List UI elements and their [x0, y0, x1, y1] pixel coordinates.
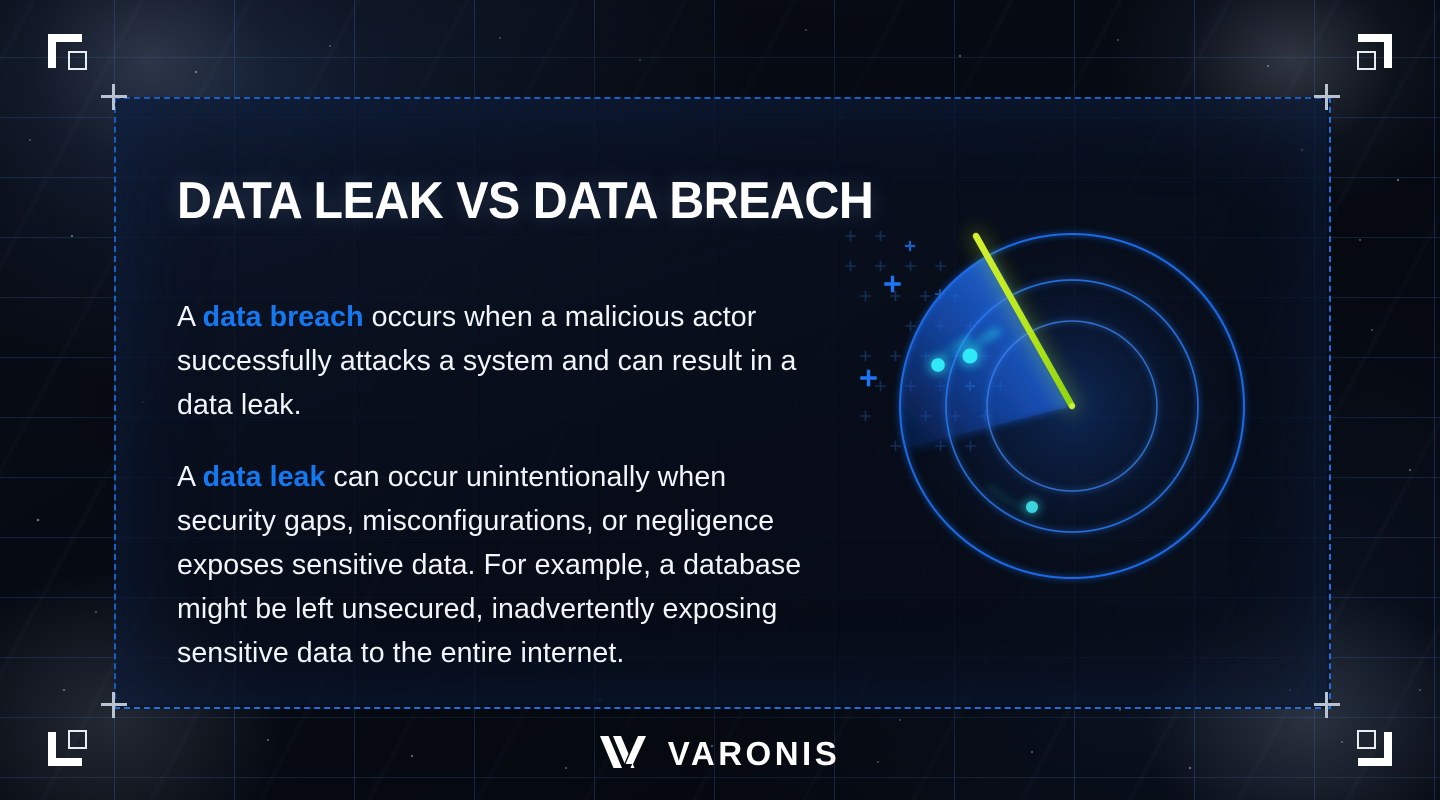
- radar-illustration: [820, 200, 1300, 620]
- p2-lead: A: [177, 461, 203, 493]
- frame-plus-top-right-icon: [1314, 84, 1340, 110]
- p1-highlight: data breach: [203, 301, 364, 333]
- radar-blip-3: [1026, 501, 1038, 513]
- radar-blip-2: [931, 358, 945, 372]
- mini-square-top-left-icon: [68, 51, 87, 70]
- content-column: DATA LEAK VS DATA BREACH A data breach o…: [177, 140, 817, 704]
- frame-plus-bottom-right-icon: [1314, 692, 1340, 718]
- frame-plus-top-left-icon: [101, 84, 127, 110]
- radar-blip-1: [963, 349, 978, 364]
- brand-logo: VARONIS: [0, 734, 1440, 772]
- p1-lead: A: [177, 301, 203, 333]
- brand-wordmark: VARONIS: [668, 737, 840, 770]
- varonis-mark-icon: [600, 734, 654, 772]
- mini-square-top-right-icon: [1357, 51, 1376, 70]
- p2-highlight: data leak: [203, 461, 326, 493]
- page-title: DATA LEAK VS DATA BREACH: [177, 175, 772, 228]
- radar-center-dot: [1069, 403, 1075, 409]
- paragraph-data-breach: A data breach occurs when a malicious ac…: [177, 295, 817, 427]
- frame-plus-bottom-left-icon: [101, 692, 127, 718]
- infographic-canvas: DATA LEAK VS DATA BREACH A data breach o…: [0, 0, 1440, 800]
- paragraph-data-leak: A data leak can occur unintentionally wh…: [177, 455, 817, 675]
